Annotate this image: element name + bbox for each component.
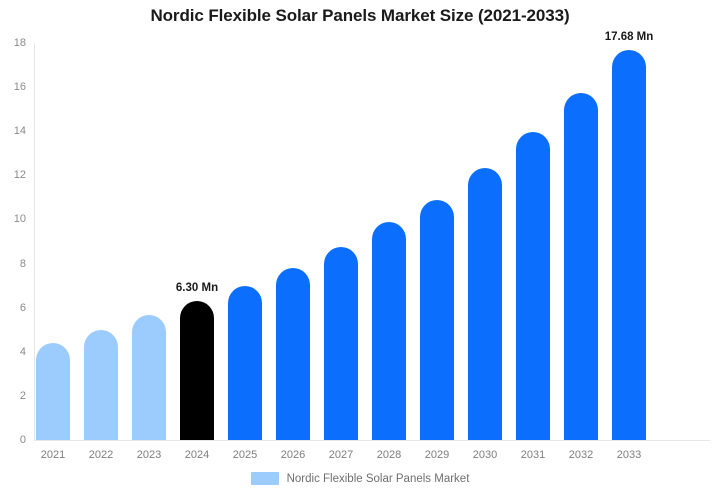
x-axis-tick: 2031 (521, 449, 545, 461)
x-axis-tick: 2024 (185, 449, 209, 461)
x-axis-tick: 2025 (233, 449, 257, 461)
bar-value-label: 17.68 Mn (605, 31, 654, 43)
x-axis-tick: 2032 (569, 449, 593, 461)
bar[interactable] (612, 50, 646, 440)
x-axis-tick: 2028 (377, 449, 401, 461)
bar[interactable] (564, 93, 598, 440)
chart-container: Nordic Flexible Solar Panels Market Size… (0, 0, 720, 500)
x-axis-tick: 2021 (41, 449, 65, 461)
bar[interactable] (84, 330, 118, 440)
x-axis-tick: 2033 (617, 449, 641, 461)
bar[interactable] (372, 222, 406, 440)
bar[interactable] (276, 268, 310, 440)
x-axis-tick: 2029 (425, 449, 449, 461)
bar[interactable] (468, 168, 502, 440)
bar[interactable] (132, 315, 166, 440)
bar[interactable] (228, 286, 262, 440)
legend-swatch (251, 472, 279, 485)
chart-legend: Nordic Flexible Solar Panels Market (0, 472, 720, 485)
bar[interactable] (180, 301, 214, 440)
x-axis-tick: 2026 (281, 449, 305, 461)
x-axis-tick: 2022 (89, 449, 113, 461)
bar[interactable] (516, 132, 550, 440)
x-axis-tick: 2030 (473, 449, 497, 461)
bar[interactable] (324, 247, 358, 440)
bar[interactable] (36, 343, 70, 440)
legend-label: Nordic Flexible Solar Panels Market (287, 473, 470, 485)
x-axis-tick: 2023 (137, 449, 161, 461)
x-axis-tick: 2027 (329, 449, 353, 461)
bars-layer: 2021202220236.30 Mn202420252026202720282… (0, 0, 720, 500)
bar-value-label: 6.30 Mn (176, 282, 218, 294)
bar[interactable] (420, 200, 454, 440)
